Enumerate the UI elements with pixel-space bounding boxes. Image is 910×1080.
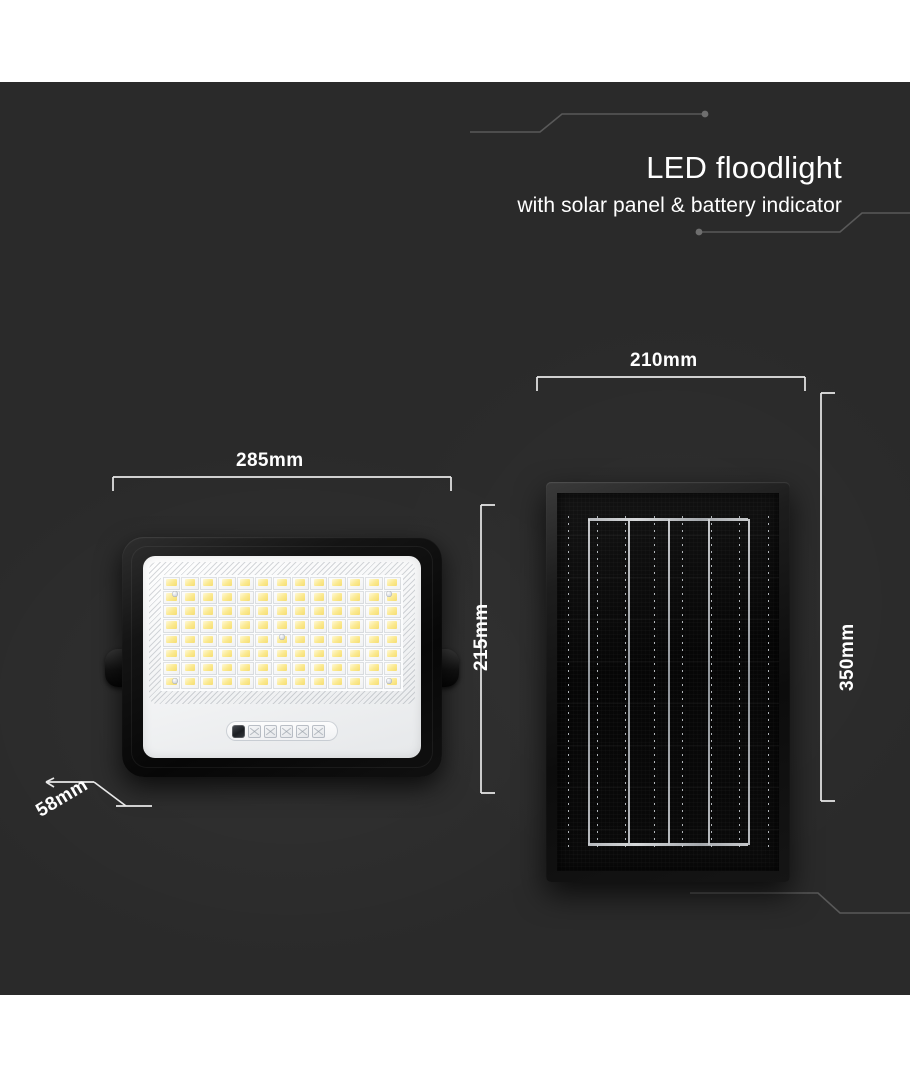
solar-finger-line: [597, 516, 598, 849]
led-chip: [365, 591, 382, 604]
solar-finger-line: [711, 516, 712, 849]
floodlight-diffuser-face: [143, 556, 421, 758]
led-chip: [292, 662, 309, 675]
led-chip-grid: [161, 575, 403, 691]
battery-segment: [280, 725, 293, 738]
battery-segment: [264, 725, 277, 738]
led-chip: [310, 591, 327, 604]
solar-finger-line: [682, 516, 683, 849]
screw-boss: [386, 591, 392, 597]
led-chip: [292, 634, 309, 647]
solar-busbar: [588, 519, 590, 844]
led-chip: [273, 591, 290, 604]
solar-cell-seam: [557, 619, 779, 620]
led-chip: [384, 605, 401, 618]
led-chip: [328, 634, 345, 647]
led-chip: [181, 634, 198, 647]
led-chip: [310, 619, 327, 632]
led-chip: [200, 577, 217, 590]
battery-segment: [248, 725, 261, 738]
led-chip: [292, 648, 309, 661]
product-floodlight: [122, 537, 442, 777]
led-chip: [255, 634, 272, 647]
battery-indicator-strip: [226, 721, 338, 741]
led-chip: [200, 634, 217, 647]
led-chip: [255, 605, 272, 618]
led-chip: [310, 634, 327, 647]
led-chip: [292, 577, 309, 590]
led-chip: [237, 676, 254, 689]
solar-finger-line: [625, 516, 626, 849]
solar-cell-seam: [557, 535, 779, 536]
led-chip: [273, 605, 290, 618]
led-chip: [255, 619, 272, 632]
led-chip: [218, 591, 235, 604]
led-chip: [255, 591, 272, 604]
dimension-label-panel-height: 350mm: [837, 631, 859, 691]
led-chip: [384, 662, 401, 675]
led-chip: [163, 605, 180, 618]
led-chip: [365, 577, 382, 590]
led-chip: [328, 577, 345, 590]
battery-segment: [296, 725, 309, 738]
dimension-label-floodlight-depth: 58mm: [32, 774, 92, 822]
led-chip: [163, 662, 180, 675]
led-chip: [292, 605, 309, 618]
led-chip: [255, 648, 272, 661]
led-chip: [365, 662, 382, 675]
led-chip: [237, 577, 254, 590]
led-chip: [237, 605, 254, 618]
solar-cell-seam: [557, 577, 779, 578]
led-chip: [310, 662, 327, 675]
led-chip: [292, 676, 309, 689]
circuit-trace-top-icon: [470, 102, 850, 142]
led-chip: [200, 591, 217, 604]
dimension-line-floodlight-width: [112, 474, 452, 494]
solar-cell-seam: [557, 745, 779, 746]
led-chip: [218, 605, 235, 618]
led-chip: [255, 662, 272, 675]
led-chip: [292, 619, 309, 632]
solar-finger-line: [654, 516, 655, 849]
dimension-label-panel-width: 210mm: [630, 350, 698, 372]
led-chip: [273, 662, 290, 675]
screw-boss: [172, 591, 178, 597]
led-chip: [200, 676, 217, 689]
led-chip: [292, 591, 309, 604]
product-stage: LED floodlight with solar panel & batter…: [0, 82, 910, 995]
screw-boss: [386, 678, 392, 684]
battery-segment: [312, 725, 325, 738]
led-chip: [181, 605, 198, 618]
led-chip: [273, 676, 290, 689]
headline-block: LED floodlight with solar panel & batter…: [517, 150, 842, 218]
led-chip: [163, 634, 180, 647]
led-chip: [365, 605, 382, 618]
led-chip: [347, 676, 364, 689]
solar-cell-array: [557, 493, 779, 871]
solar-finger-line: [739, 516, 740, 849]
page-subtitle: with solar panel & battery indicator: [517, 194, 842, 218]
led-chip: [218, 676, 235, 689]
dimension-label-floodlight-width: 285mm: [236, 450, 304, 472]
led-chip: [237, 648, 254, 661]
solar-cell-seam: [557, 703, 779, 704]
led-chip: [310, 676, 327, 689]
led-chip: [347, 619, 364, 632]
led-chip: [218, 577, 235, 590]
led-chip: [347, 591, 364, 604]
led-chip: [200, 662, 217, 675]
dimension-label-floodlight-height: 215mm: [471, 611, 493, 671]
led-chip: [328, 676, 345, 689]
led-chip: [218, 648, 235, 661]
led-chip: [310, 577, 327, 590]
led-chip: [328, 619, 345, 632]
led-chip: [163, 648, 180, 661]
led-chip: [310, 605, 327, 618]
light-sensor-icon: [232, 725, 245, 738]
screw-boss: [172, 678, 178, 684]
led-chip: [347, 605, 364, 618]
solar-cell-seam: [557, 787, 779, 788]
led-chip: [365, 634, 382, 647]
led-chip: [255, 676, 272, 689]
led-chip: [200, 619, 217, 632]
screw-boss: [279, 634, 285, 640]
led-chip: [384, 619, 401, 632]
solar-finger-line: [568, 516, 569, 849]
solar-busbar: [748, 519, 750, 844]
led-chip: [365, 619, 382, 632]
led-chip: [347, 662, 364, 675]
led-chip: [328, 605, 345, 618]
solar-busbar: [708, 519, 710, 844]
led-chip: [365, 648, 382, 661]
led-chip: [237, 591, 254, 604]
solar-busbar: [668, 519, 670, 844]
led-chip: [218, 634, 235, 647]
led-chip: [384, 648, 401, 661]
led-chip: [328, 591, 345, 604]
led-chip: [218, 619, 235, 632]
led-chip: [328, 648, 345, 661]
solar-cell-seam: [557, 829, 779, 830]
led-chip: [384, 577, 401, 590]
led-chip: [163, 619, 180, 632]
led-chip: [181, 648, 198, 661]
led-chip: [237, 662, 254, 675]
page-title: LED floodlight: [517, 150, 842, 186]
solar-finger-line: [768, 516, 769, 849]
led-chip: [347, 648, 364, 661]
led-chip: [255, 577, 272, 590]
led-chip: [347, 634, 364, 647]
led-chip: [273, 577, 290, 590]
led-chip: [237, 634, 254, 647]
solar-busbar: [628, 519, 630, 844]
led-chip: [347, 577, 364, 590]
led-chip: [200, 605, 217, 618]
circuit-trace-bottom-icon: [690, 877, 910, 927]
led-chip: [218, 662, 235, 675]
led-chip: [328, 662, 345, 675]
solar-cell-seam: [557, 661, 779, 662]
led-chip: [181, 662, 198, 675]
led-chip: [384, 634, 401, 647]
led-chip: [273, 619, 290, 632]
led-chip: [237, 619, 254, 632]
led-chip: [181, 676, 198, 689]
led-chip: [163, 577, 180, 590]
led-chip: [181, 577, 198, 590]
led-chip: [273, 648, 290, 661]
led-chip: [310, 648, 327, 661]
dimension-line-panel-height: [818, 392, 838, 802]
product-solar-panel: [546, 482, 790, 882]
led-chip: [181, 619, 198, 632]
led-chip: [365, 676, 382, 689]
led-chip: [200, 648, 217, 661]
dimension-line-panel-width: [536, 374, 806, 394]
led-chip: [181, 591, 198, 604]
